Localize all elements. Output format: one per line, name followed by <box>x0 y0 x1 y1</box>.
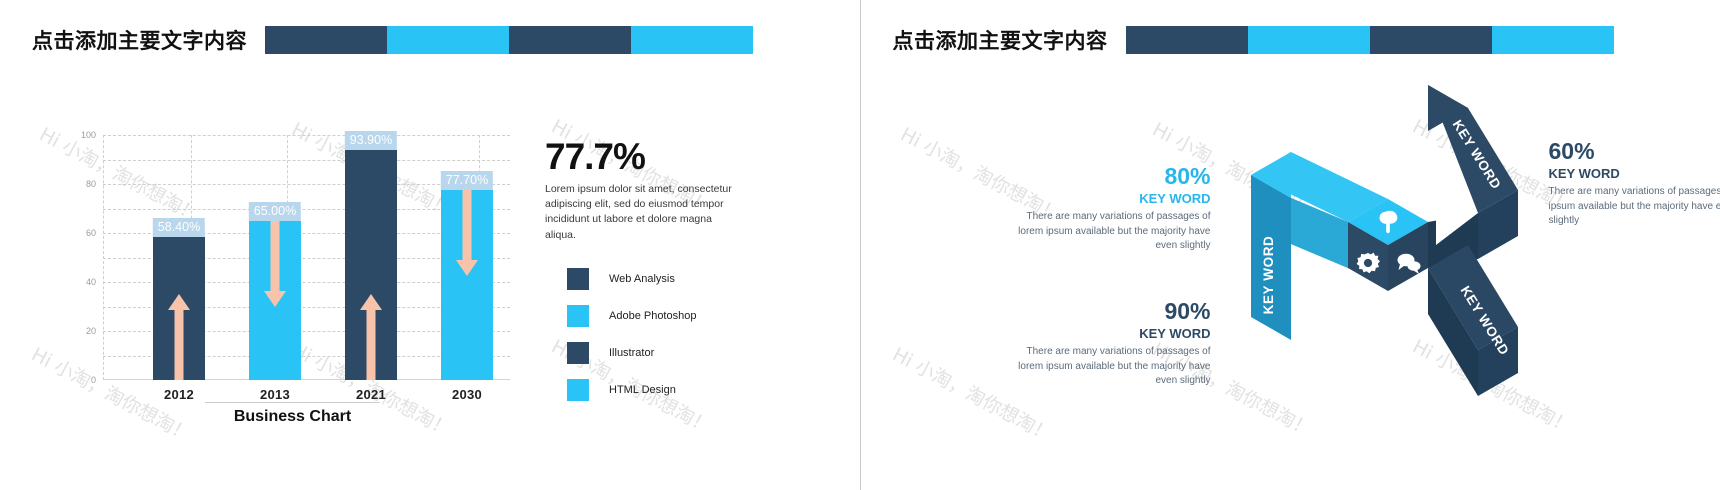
y-axis-tick: 80 <box>86 179 96 189</box>
slide-left: Hi 小淘，淘你想淘！ Hi 小淘，淘你想淘！ Hi 小淘，淘你想淘！ Hi 小… <box>0 0 860 490</box>
chart-bar[interactable]: 93.90% <box>345 150 397 380</box>
header-bar-strip <box>265 26 753 54</box>
header-bar-1 <box>265 26 387 54</box>
slide-right: Hi 小淘，淘你想淘！ Hi 小淘，淘你想淘！ Hi 小淘，淘你想淘！ Hi 小… <box>860 0 1720 490</box>
info-percent: 60% <box>1549 140 1720 163</box>
legend-swatch <box>567 305 589 327</box>
legend-label: Illustrator <box>609 347 654 359</box>
gridline-vertical <box>103 135 104 380</box>
chart-bar[interactable]: 65.00% <box>249 221 301 380</box>
info-keyword: KEY WORD <box>1011 326 1211 341</box>
legend-swatch <box>567 268 589 290</box>
header-bar-1 <box>1126 26 1248 54</box>
bar-data-label: 77.70% <box>441 171 493 190</box>
bar-data-label: 58.40% <box>153 218 205 237</box>
info-block-60: 60% KEY WORD There are many variations o… <box>1549 140 1720 229</box>
chart-legend: Web Analysis Adobe Photoshop Illustrator… <box>545 261 795 409</box>
info-block-90: 90% KEY WORD There are many variations o… <box>1011 300 1211 389</box>
legend-item[interactable]: Illustrator <box>545 335 795 372</box>
slide-deck: Hi 小淘，淘你想淘！ Hi 小淘，淘你想淘！ Hi 小淘，淘你想淘！ Hi 小… <box>0 0 1720 490</box>
info-body-text: There are many variations of passages of… <box>1549 185 1720 229</box>
y-axis-tick: 0 <box>91 375 96 385</box>
legend-swatch <box>567 342 589 364</box>
slide-header: 点击添加主要文字内容 <box>893 25 1614 55</box>
info-block-80: 80% KEY WORD There are many variations o… <box>1016 165 1211 254</box>
chart-summary-panel: 77.7% Lorem ipsum dolor sit amet, consec… <box>545 138 795 409</box>
down-arrow-icon <box>264 221 286 307</box>
summary-body-text: Lorem ipsum dolor sit amet, consectetur … <box>545 182 741 243</box>
info-keyword: KEY WORD <box>1549 166 1720 181</box>
y-axis-tick: 60 <box>86 228 96 238</box>
legend-item[interactable]: Web Analysis <box>545 261 795 298</box>
bar-data-label: 65.00% <box>249 202 301 221</box>
up-arrow-icon <box>168 294 190 380</box>
chart-bar[interactable]: 77.70% <box>441 190 493 380</box>
header-bar-strip <box>1126 26 1614 54</box>
header-bar-4 <box>631 26 753 54</box>
info-body-text: There are many variations of passages of… <box>1011 345 1211 389</box>
info-percent: 90% <box>1011 300 1211 323</box>
x-axis-label: 2012 <box>164 387 194 402</box>
bar-chart: 100 80 60 40 20 0 58.40% <box>55 135 510 380</box>
isometric-infographic: KEY WORD KEY WORD KEY WORD <box>1221 85 1551 430</box>
y-axis-tick: 40 <box>86 277 96 287</box>
chart-bar[interactable]: 58.40% <box>153 237 205 380</box>
page-title: 点击添加主要文字内容 <box>32 25 247 55</box>
info-body-text: There are many variations of passages of… <box>1016 210 1211 254</box>
header-bar-4 <box>1492 26 1614 54</box>
summary-percent: 77.7% <box>545 138 795 175</box>
page-title: 点击添加主要文字内容 <box>893 25 1108 55</box>
legend-swatch <box>567 379 589 401</box>
bar-data-label: 93.90% <box>345 131 397 150</box>
legend-label: HTML Design <box>609 384 676 396</box>
info-percent: 80% <box>1016 165 1211 188</box>
x-axis-label: 2030 <box>452 387 482 402</box>
legend-label: Web Analysis <box>609 273 675 285</box>
gridline <box>103 135 510 136</box>
slide-header: 点击添加主要文字内容 <box>32 25 753 55</box>
header-bar-2 <box>1248 26 1370 54</box>
info-keyword: KEY WORD <box>1016 191 1211 206</box>
y-axis-tick: 20 <box>86 326 96 336</box>
up-arrow-icon <box>360 294 382 380</box>
legend-item[interactable]: HTML Design <box>545 372 795 409</box>
header-bar-2 <box>387 26 509 54</box>
y-axis-tick: 100 <box>81 130 96 140</box>
header-bar-3 <box>1370 26 1492 54</box>
down-arrow-icon <box>456 190 478 276</box>
chart-title: Business Chart <box>205 400 380 426</box>
chart-plot-area: 100 80 60 40 20 0 58.40% <box>103 135 510 380</box>
legend-item[interactable]: Adobe Photoshop <box>545 298 795 335</box>
legend-label: Adobe Photoshop <box>609 310 696 322</box>
left-arm-keyword: KEY WORD <box>1261 236 1276 315</box>
header-bar-3 <box>509 26 631 54</box>
gridline <box>103 160 510 161</box>
